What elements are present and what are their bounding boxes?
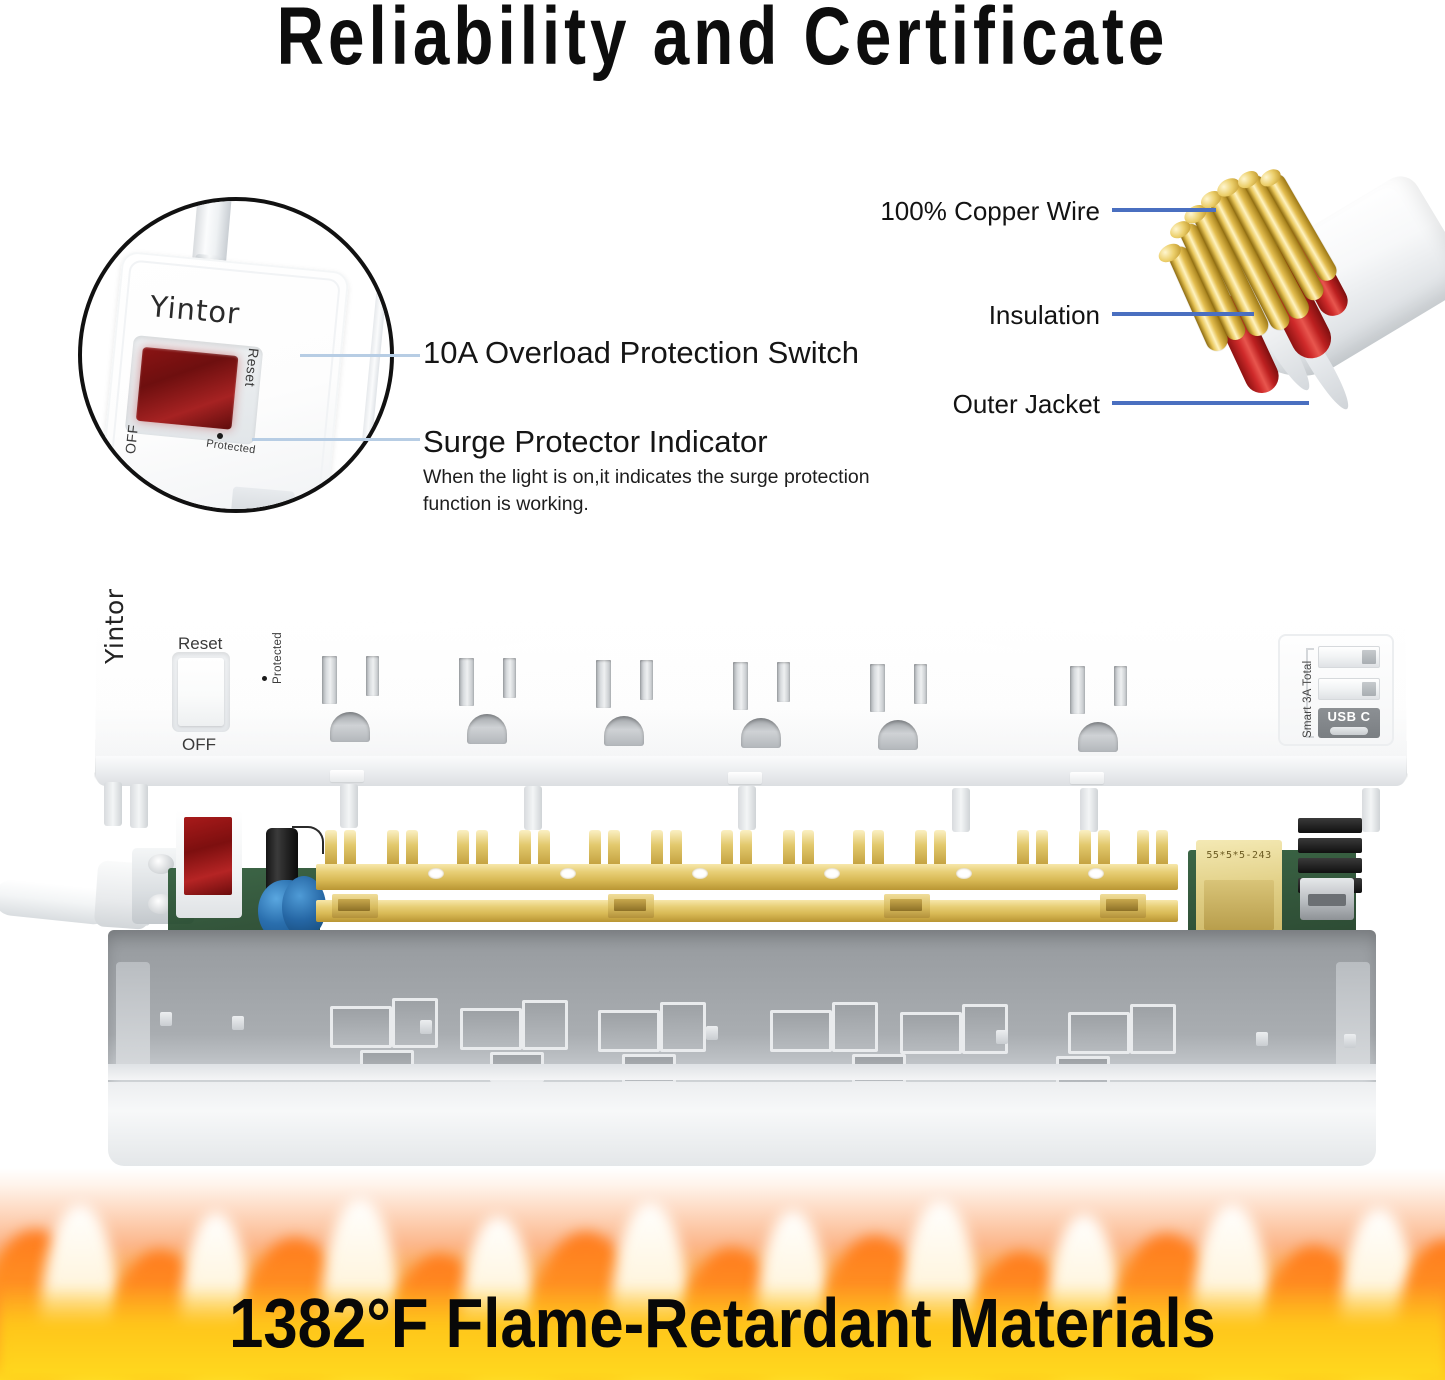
base-front-lip xyxy=(108,1082,1376,1166)
power-strip-label-reset: Reset xyxy=(178,634,222,654)
cover-clip-tab-2 xyxy=(728,772,762,784)
outlet-ground-hole xyxy=(741,718,781,748)
busbar-hole-4 xyxy=(824,868,840,879)
usb-connector-shell-3 xyxy=(1298,858,1362,873)
base-compartment-10 xyxy=(962,1004,1008,1054)
busbar-lug-2 xyxy=(608,894,654,918)
usb-a-port-1[interactable] xyxy=(1318,646,1380,668)
base-compartment-3 xyxy=(460,1008,522,1050)
contact-clip-7 xyxy=(720,830,754,866)
callout-copper-wire: 100% Copper Wire xyxy=(868,196,1100,227)
transformer-core xyxy=(1204,880,1274,930)
base-compartment-1 xyxy=(330,1006,392,1048)
base-compartment-11 xyxy=(1068,1012,1130,1054)
busbar-upper xyxy=(316,864,1178,890)
busbar-lug-3 xyxy=(884,894,930,918)
outlet-hot-slot xyxy=(366,656,379,696)
contact-clip-8 xyxy=(782,830,816,866)
outlet-neutral-slot xyxy=(459,658,474,706)
base-end-wall-left xyxy=(116,962,150,1072)
outlet-hot-slot xyxy=(503,658,516,698)
cover-clip-tab-1 xyxy=(330,770,364,782)
outlet-ground-hole xyxy=(467,714,507,744)
leader-line-surge-indicator xyxy=(252,438,420,441)
base-compartment-6 xyxy=(660,1002,706,1052)
usb-connector-shell-2 xyxy=(1298,838,1362,853)
cover-post-6 xyxy=(952,788,970,832)
busbar-hole-3 xyxy=(692,868,708,879)
contact-clip-1 xyxy=(324,830,358,866)
busbar-lug-4 xyxy=(1100,894,1146,918)
leader-line-insulation xyxy=(1112,312,1254,316)
outlet-hot-slot xyxy=(640,660,653,700)
usb-charging-panel: Smart 3A Total USB C xyxy=(1278,634,1394,746)
power-strip-brand-logo: Yintor xyxy=(100,588,129,664)
base-screw-post-2 xyxy=(232,1016,244,1030)
power-strip-label-off: OFF xyxy=(182,735,216,755)
outlet-ground-hole xyxy=(604,716,644,746)
outlet-neutral-slot xyxy=(322,656,337,704)
usb-c-port[interactable]: USB C xyxy=(1318,708,1380,738)
cover-post-2 xyxy=(130,784,148,828)
usb-connector-shell-1 xyxy=(1298,818,1362,833)
leader-line-copper-wire xyxy=(1112,208,1216,212)
infographic-canvas: Reliability and Certificate Yintor Reset… xyxy=(0,0,1445,1380)
inset-label-off: OFF xyxy=(122,424,141,455)
cover-post-5 xyxy=(738,786,756,830)
busbar-hole-2 xyxy=(560,868,576,879)
contact-clip-4 xyxy=(518,830,552,866)
contact-clip-9 xyxy=(852,830,886,866)
ac-outlet-1[interactable] xyxy=(320,656,406,734)
busbar-hole-6 xyxy=(1088,868,1104,879)
outlet-ground-hole xyxy=(1078,722,1118,752)
cover-clip-tab-3 xyxy=(1070,772,1104,784)
ac-outlet-6[interactable] xyxy=(1068,666,1154,744)
power-strip-protected-led xyxy=(262,676,267,681)
inset-red-rocker-switch[interactable] xyxy=(136,347,239,430)
busbar-hole-1 xyxy=(428,868,444,879)
base-rim xyxy=(108,1064,1376,1080)
cover-post-7 xyxy=(1080,788,1098,832)
breaker-switch-housing xyxy=(176,810,242,918)
outlet-ground-hole xyxy=(878,720,918,750)
outlet-neutral-slot xyxy=(733,662,748,710)
ac-outlet-3[interactable] xyxy=(594,660,680,738)
callout-surge-indicator-description: When the light is on,it indicates the su… xyxy=(423,464,893,518)
callout-surge-indicator-title: Surge Protector Indicator xyxy=(423,424,768,460)
callout-overload-switch-title: 10A Overload Protection Switch xyxy=(423,335,859,371)
base-end-wall-right xyxy=(1336,962,1370,1072)
leader-line-overload-switch xyxy=(300,354,420,357)
base-compartment-5 xyxy=(598,1010,660,1052)
cover-post-4 xyxy=(524,786,542,830)
usb-a-port-2[interactable] xyxy=(1318,678,1380,700)
usb-smart-total-label: Smart 3A Total xyxy=(1302,661,1314,738)
contact-clip-13 xyxy=(1136,830,1170,866)
inset-protected-indicator-dot xyxy=(217,433,223,439)
base-compartment-7 xyxy=(770,1010,832,1052)
outlet-neutral-slot xyxy=(870,664,885,712)
busbar-lug-1 xyxy=(332,894,378,918)
inset-panel-foot xyxy=(231,486,295,513)
outlet-ground-hole xyxy=(330,712,370,742)
outlet-neutral-slot xyxy=(1070,666,1085,714)
transformer-marking-label: 55*5*5-243 xyxy=(1196,850,1282,861)
copper-busbar-assembly xyxy=(316,858,1178,920)
ac-outlet-4[interactable] xyxy=(731,662,817,740)
power-strip-rocker-switch[interactable] xyxy=(178,658,224,726)
contact-clip-12 xyxy=(1078,830,1112,866)
busbar-hole-5 xyxy=(956,868,972,879)
leader-line-outer-jacket xyxy=(1112,401,1309,405)
outlet-hot-slot xyxy=(914,664,927,704)
ac-outlet-2[interactable] xyxy=(457,658,543,736)
base-screw-post-1 xyxy=(160,1012,172,1026)
base-compartment-8 xyxy=(832,1002,878,1052)
base-screw-post-3 xyxy=(420,1020,432,1034)
contact-clip-10 xyxy=(914,830,948,866)
base-compartment-12 xyxy=(1130,1004,1176,1054)
base-compartment-4 xyxy=(522,1000,568,1050)
breaker-red-rocker[interactable] xyxy=(184,817,232,895)
inset-switch-well xyxy=(125,335,264,445)
base-screw-post-6 xyxy=(1256,1032,1268,1046)
base-screw-post-4 xyxy=(706,1026,718,1040)
busbar-lower xyxy=(316,900,1178,922)
ac-outlet-5[interactable] xyxy=(868,664,954,742)
contact-clip-2 xyxy=(386,830,420,866)
power-strip-switch-well xyxy=(172,652,230,732)
outlet-hot-slot xyxy=(777,662,790,702)
usb-c-label: USB C xyxy=(1318,709,1380,724)
outlet-hot-slot xyxy=(1114,666,1127,706)
usb-c-connector-metal xyxy=(1300,878,1354,920)
contact-clip-3 xyxy=(456,830,490,866)
page-title: Reliability and Certificate xyxy=(145,0,1301,78)
component-lead-wire xyxy=(292,826,324,854)
cover-post-1 xyxy=(104,782,122,826)
transformer-component: 55*5*5-243 xyxy=(1196,840,1282,938)
callout-outer-jacket: Outer Jacket xyxy=(868,389,1100,420)
footer-title: 1382°F Flame-Retardant Materials xyxy=(87,1283,1359,1363)
power-strip-label-protected: Protected xyxy=(272,632,284,684)
callout-insulation: Insulation xyxy=(868,300,1100,331)
usb-c-slot-opening xyxy=(1330,727,1368,735)
base-screw-post-5 xyxy=(996,1030,1008,1044)
base-compartment-9 xyxy=(900,1012,962,1054)
cover-post-3 xyxy=(340,784,358,828)
contact-clip-11 xyxy=(1016,830,1050,866)
base-screw-post-7 xyxy=(1344,1034,1356,1048)
cable-cross-section-illustration xyxy=(1182,160,1445,432)
contact-clip-5 xyxy=(588,830,622,866)
outlet-neutral-slot xyxy=(596,660,611,708)
contact-clip-6 xyxy=(650,830,684,866)
